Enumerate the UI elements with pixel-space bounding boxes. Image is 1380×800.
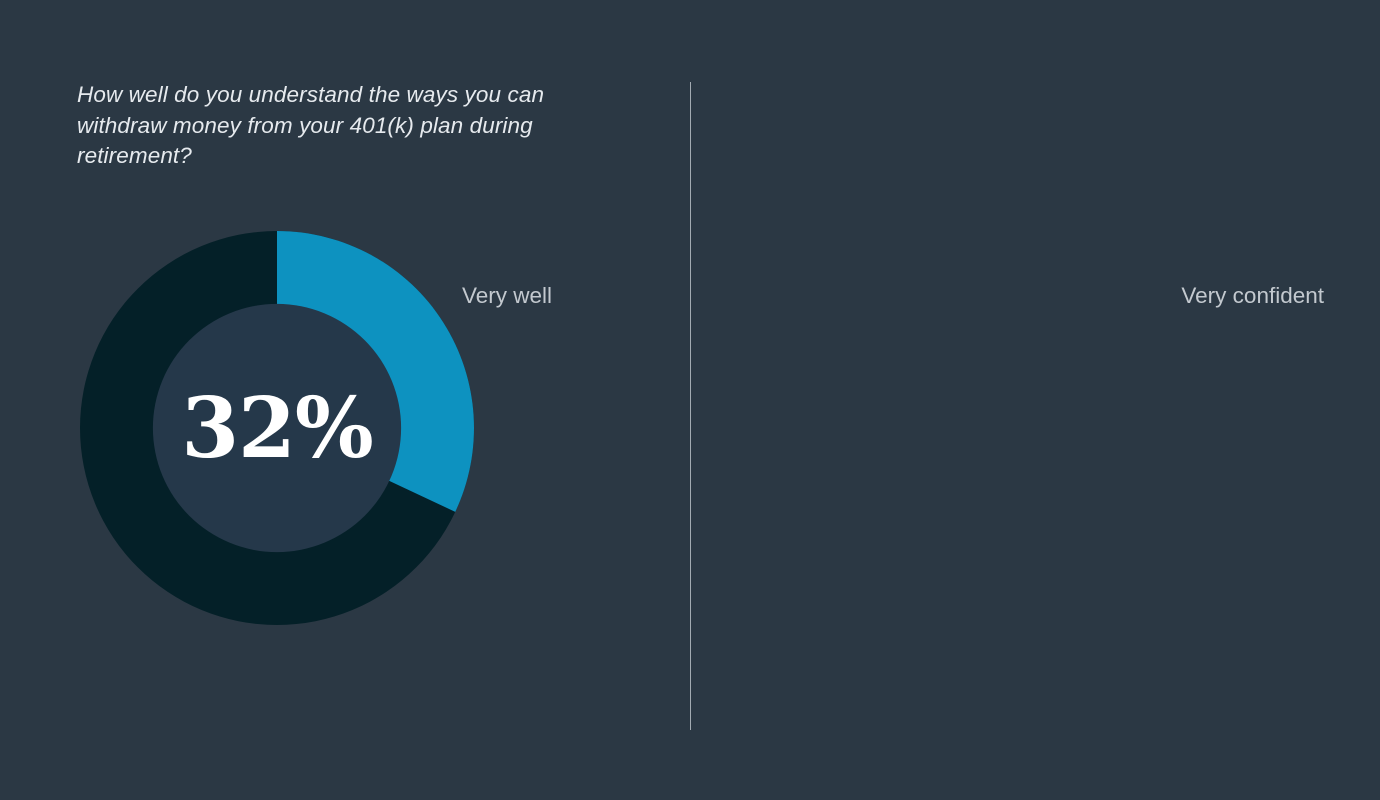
question-text-left: How well do you understand the ways you …: [77, 80, 597, 172]
panel-understanding: How well do you understand the ways you …: [0, 0, 690, 800]
segment-label-right: Very confident: [1181, 283, 1324, 309]
panel-divider: [690, 82, 691, 730]
donut-chart-left: 32%: [80, 231, 474, 625]
donut-svg-left: [80, 231, 474, 625]
segment-label-left: Very well: [462, 283, 552, 309]
panel-confidence: Are you confident about choosing the bes…: [690, 0, 1380, 800]
donut-hole-left: [153, 304, 401, 552]
